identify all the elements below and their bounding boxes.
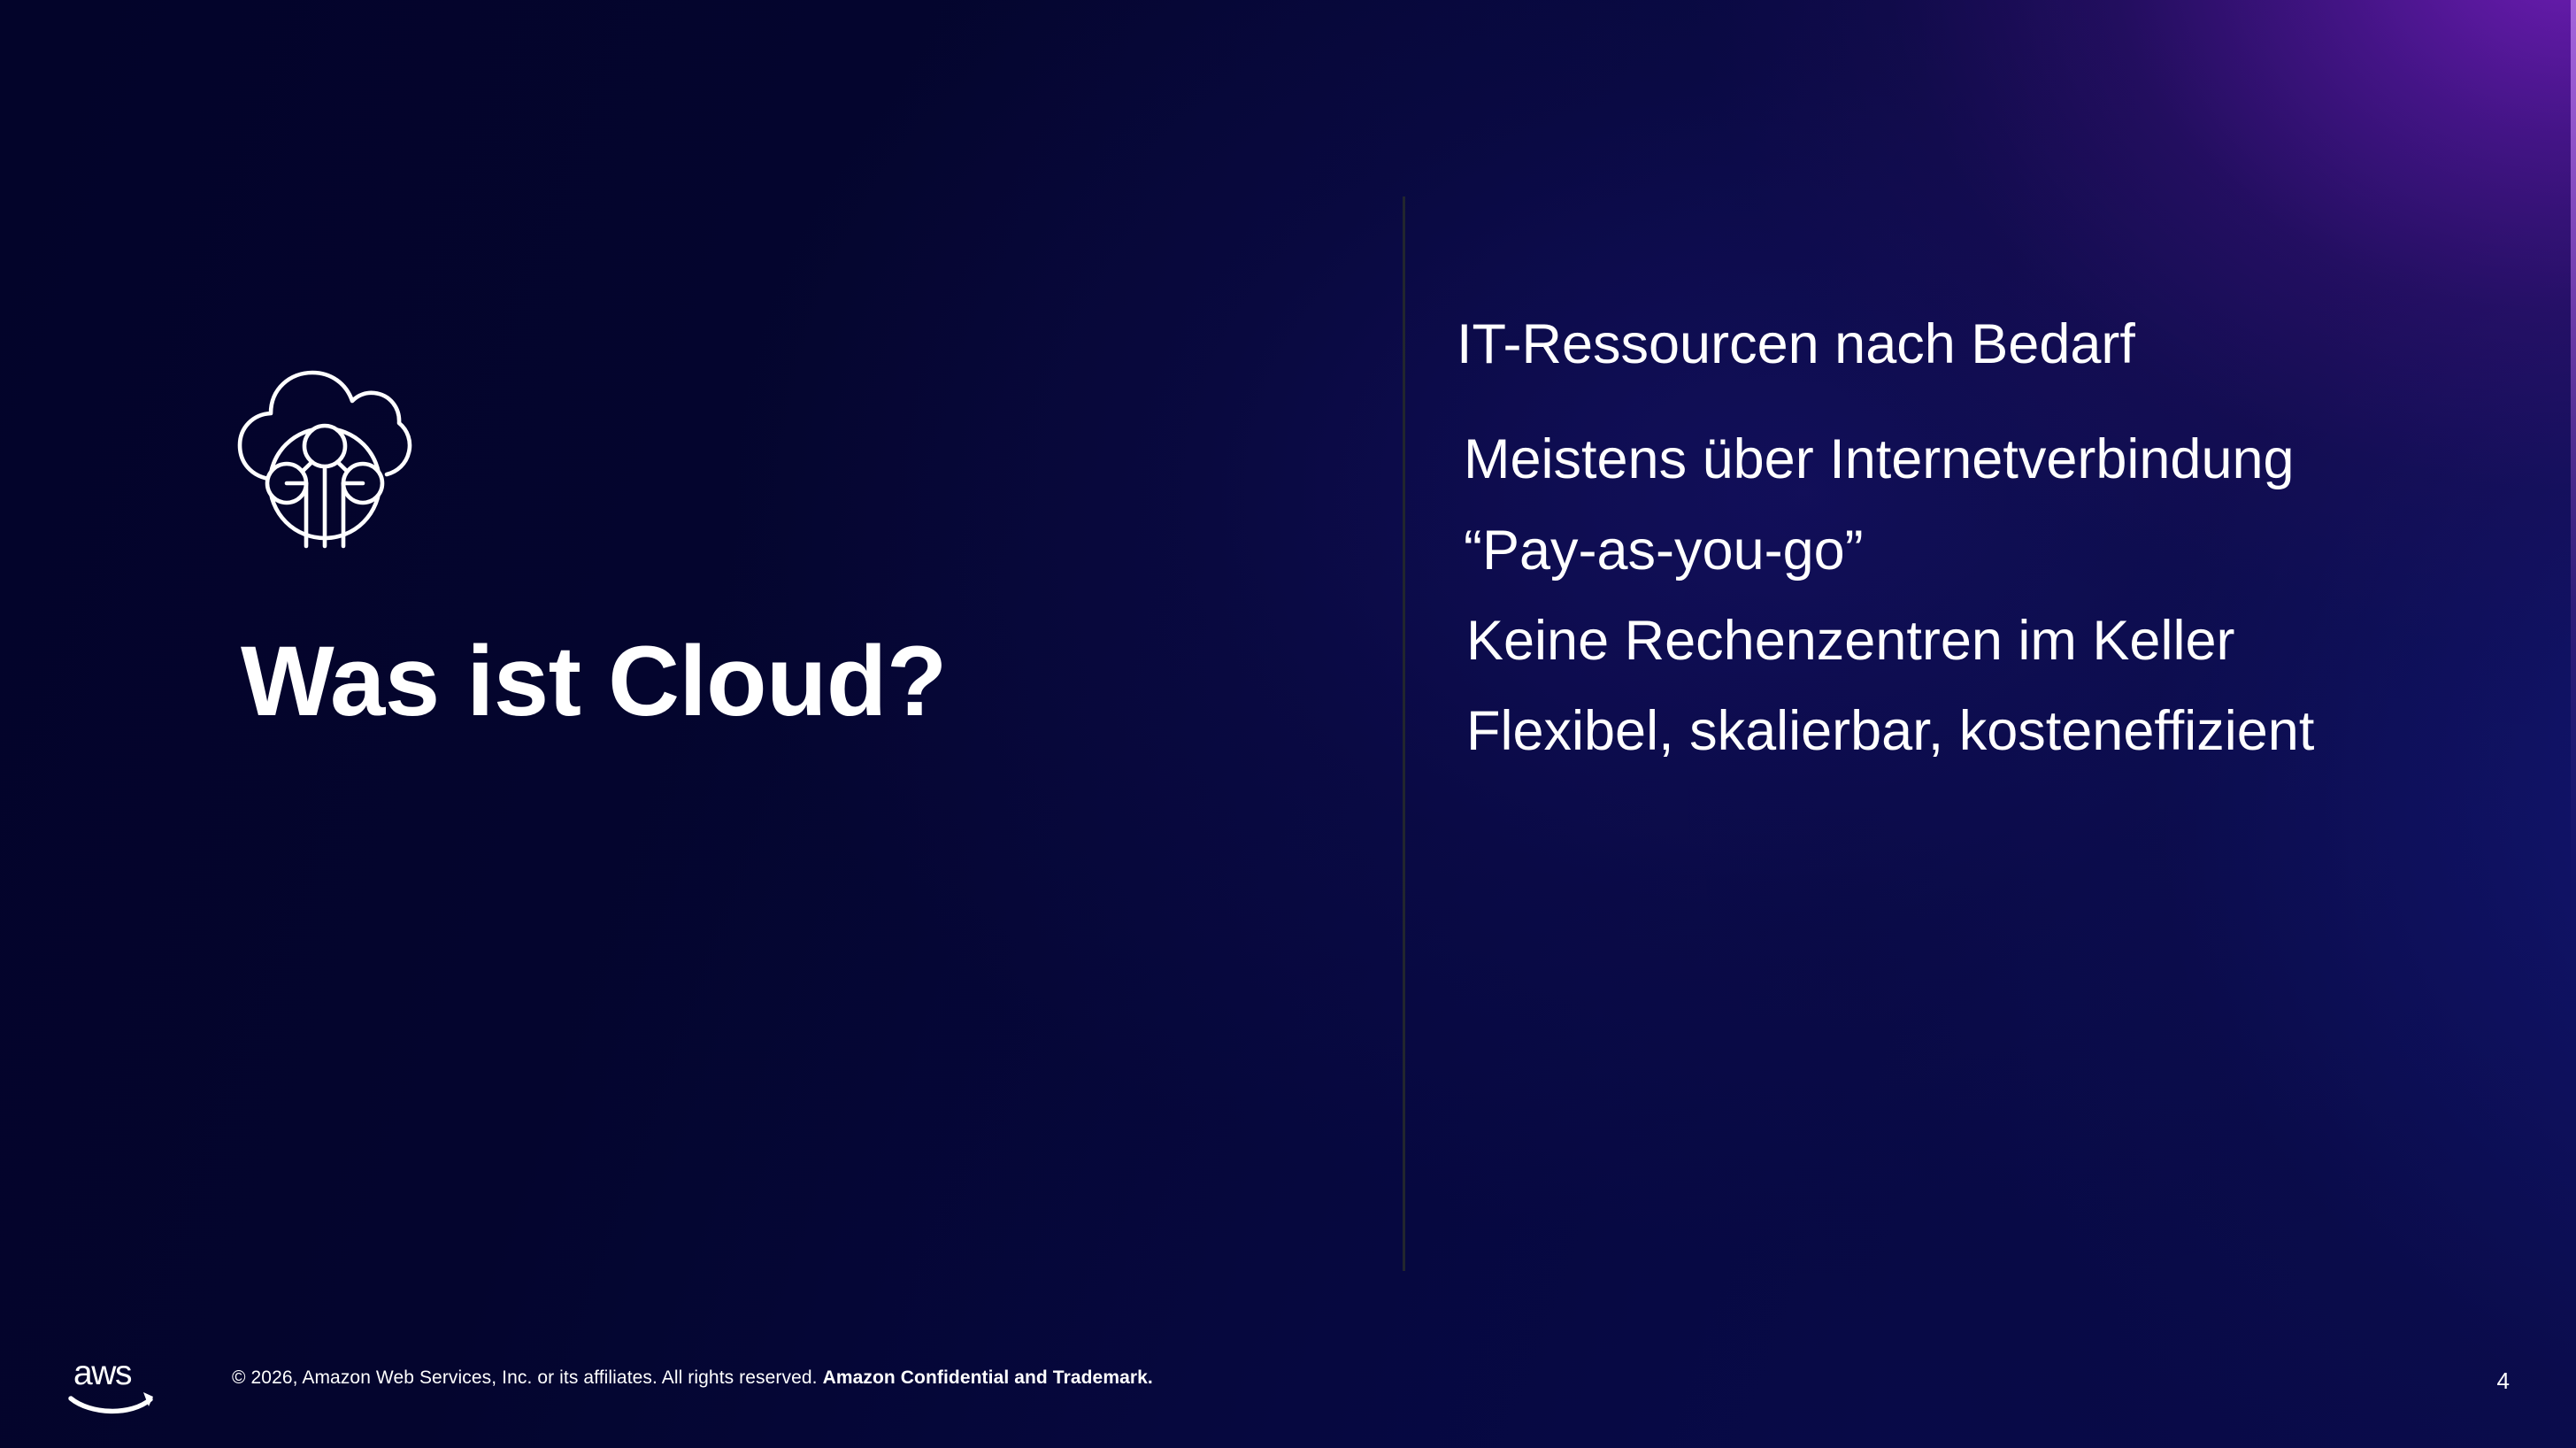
list-item: Meistens über Internetverbindung	[1464, 427, 2501, 492]
aws-logo: aws	[67, 1352, 165, 1420]
vertical-divider	[1403, 196, 1405, 1271]
svg-text:aws: aws	[73, 1354, 132, 1392]
slide-number: 4	[2497, 1367, 2510, 1395]
page-title: Was ist Cloud?	[241, 627, 947, 736]
list-item: Flexibel, skalierbar, kosteneffizient	[1466, 698, 2501, 764]
footer-copyright: © 2026, Amazon Web Services, Inc. or its…	[232, 1367, 1153, 1389]
presentation-slide: Was ist Cloud? IT-Ressourcen nach Bedarf…	[0, 0, 2576, 1448]
list-item: IT-Ressourcen nach Bedarf	[1457, 312, 2501, 377]
cloud-network-icon	[232, 365, 418, 558]
bullet-list: IT-Ressourcen nach Bedarf Meistens über …	[1457, 312, 2501, 765]
list-item: Keine Rechenzentren im Keller	[1466, 608, 2501, 674]
list-item: “Pay-as-you-go”	[1464, 518, 2501, 583]
copyright-text: © 2026, Amazon Web Services, Inc. or its…	[232, 1367, 823, 1388]
confidential-text: Amazon Confidential and Trademark.	[823, 1367, 1153, 1388]
